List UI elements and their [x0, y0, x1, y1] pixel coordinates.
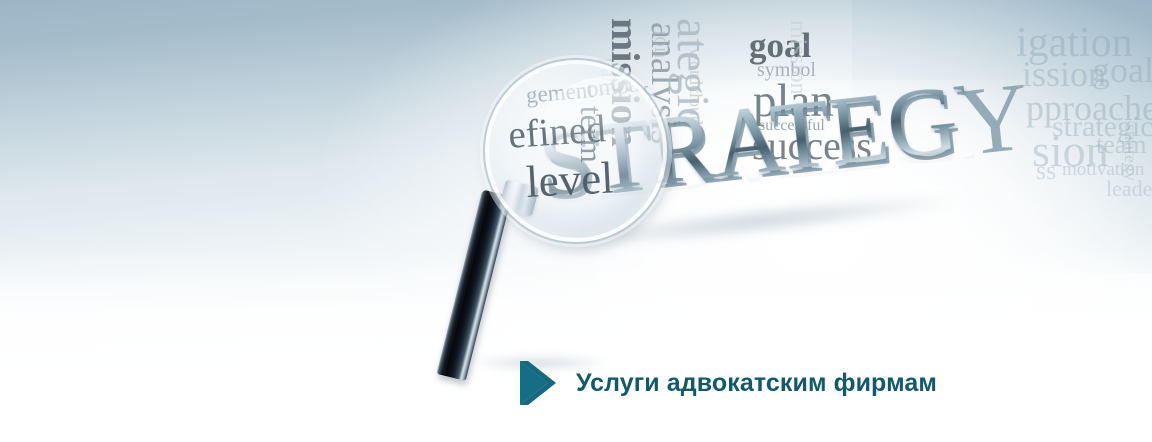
cloud-word: level	[525, 155, 615, 205]
chevron-right-icon[interactable]	[518, 359, 558, 407]
cloud-word: gement	[525, 78, 594, 107]
caption-text: Услуги адвокатским фирмам	[576, 369, 937, 398]
caption-bar[interactable]: Услуги адвокатским фирмам	[518, 358, 937, 408]
magnifying-glass-icon: efinedlevelgementompanyterm	[440, 55, 670, 375]
cloud-word: ompany	[585, 70, 664, 102]
magnifier-handle	[436, 189, 511, 381]
strategy-hero-banner: goalsymbolplansuccessfulsuccessmissionan…	[0, 0, 1152, 442]
cloud-word: term	[576, 106, 607, 163]
magnifier-lens: efinedlevelgementompanyterm	[485, 60, 667, 242]
